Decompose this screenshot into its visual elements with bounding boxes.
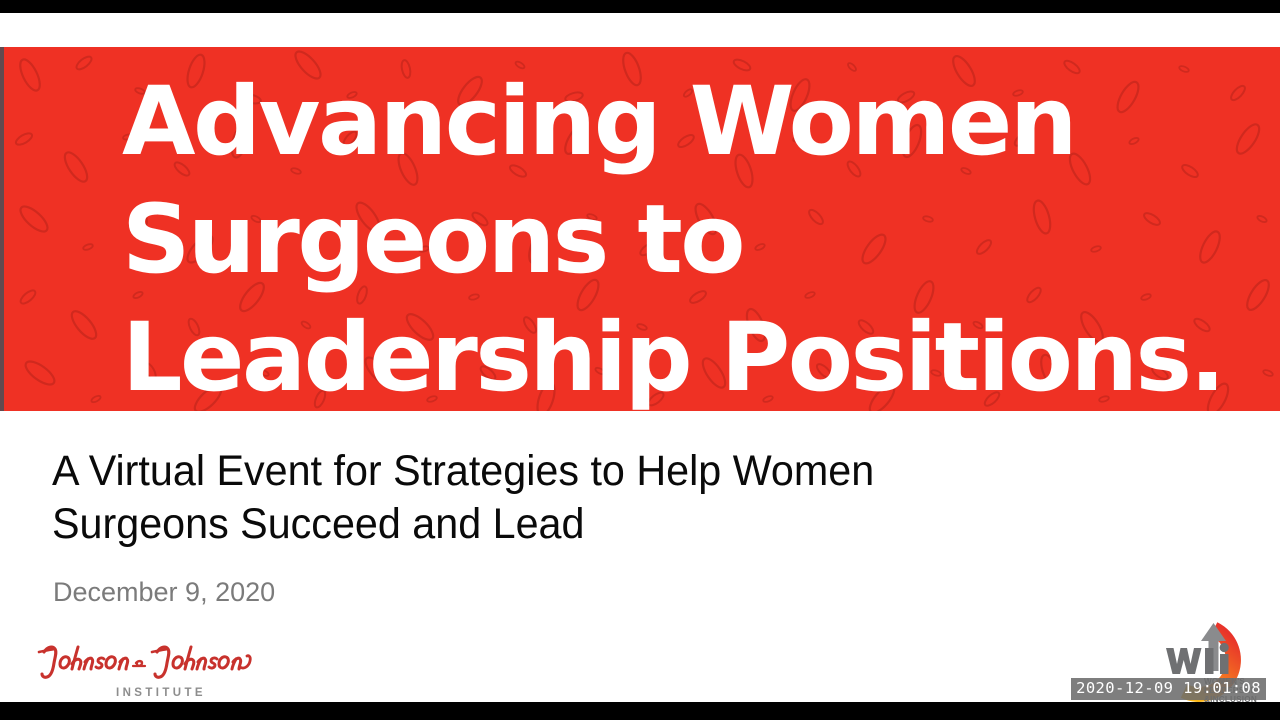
johnson-and-johnson-institute-logo: INSTITUTE [36, 638, 286, 702]
title-banner: Advancing Women Surgeons to Leadership P… [0, 47, 1280, 411]
banner-left-edge-sliver [0, 47, 4, 411]
recording-timestamp-overlay: 2020-12-09 19:01:08 [1071, 678, 1266, 700]
presentation-slide: Advancing Women Surgeons to Leadership P… [0, 13, 1280, 702]
wli-wordmark-icon [1166, 643, 1229, 674]
johnson-and-johnson-wordmark-icon [36, 638, 286, 684]
letterbox-bar-top [0, 0, 1280, 13]
video-player-frame: Advancing Women Surgeons to Leadership P… [0, 0, 1280, 720]
johnson-institute-sublabel: INSTITUTE [36, 687, 286, 699]
letterbox-bar-bottom [0, 702, 1280, 720]
slide-event-date: December 9, 2020 [53, 576, 275, 608]
slide-title: Advancing Women Surgeons to Leadership P… [122, 63, 1252, 411]
slide-subheadline: A Virtual Event for Strategies to Help W… [52, 445, 1012, 551]
